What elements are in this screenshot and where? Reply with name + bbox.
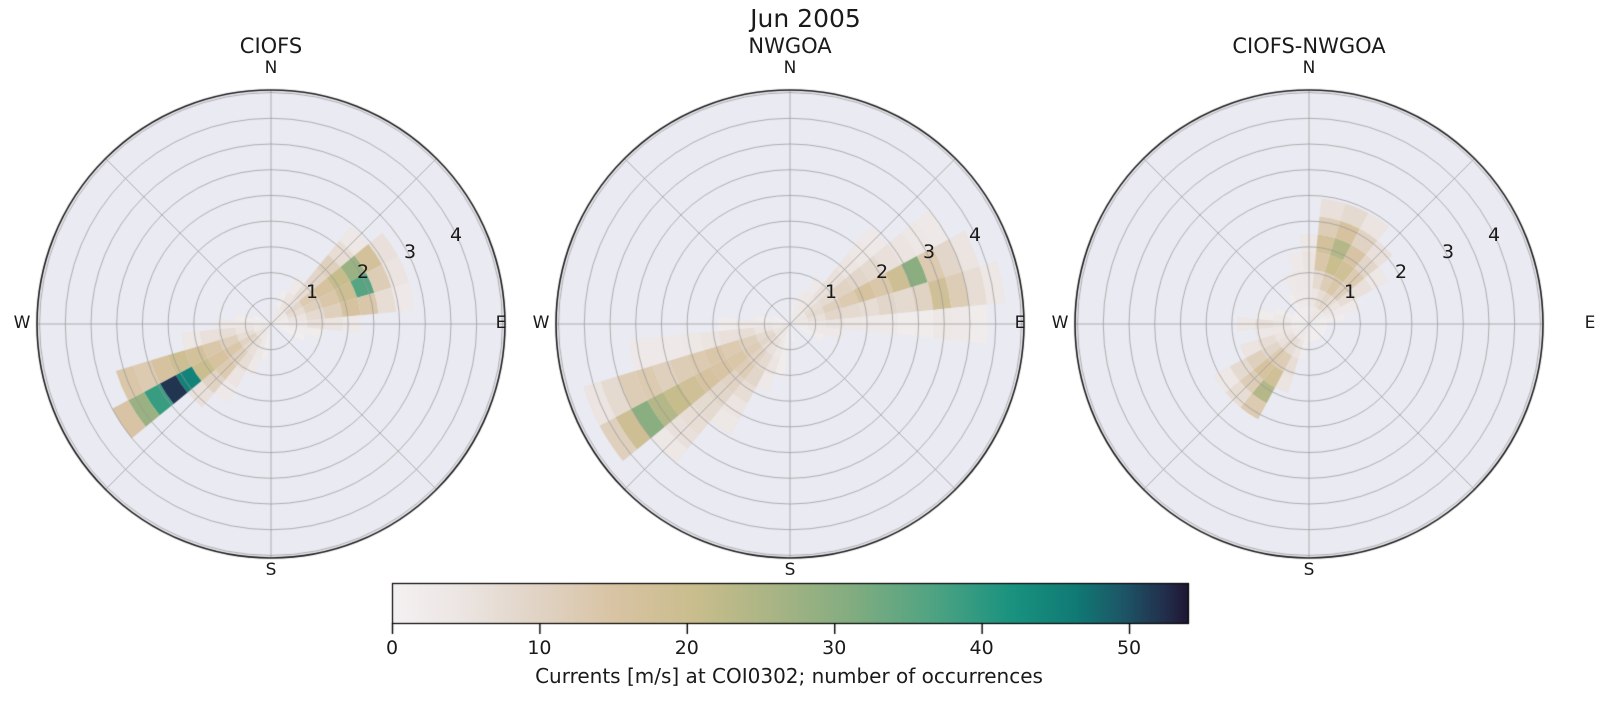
r-tick-label-3-ciofs-nwgoa: 3 [1436, 241, 1460, 263]
r-tick-label-2-nwgoa: 2 [870, 261, 894, 283]
colorbar-tick-20: 20 [662, 637, 712, 659]
r-tick-label-3-nwgoa: 3 [917, 241, 941, 263]
direction-label-n-ciofs: N [241, 58, 301, 78]
r-tick-label-3-ciofs: 3 [398, 241, 422, 263]
panel-title-nwgoa: NWGOA [640, 33, 940, 59]
panel-title-ciofs-nwgoa: CIOFS-NWGOA [1159, 33, 1459, 59]
colorbar-tick-0: 0 [367, 637, 417, 659]
direction-label-s-ciofs-nwgoa: S [1279, 560, 1339, 580]
colorbar-tick-40: 40 [957, 637, 1007, 659]
r-tick-label-4-ciofs-nwgoa: 4 [1482, 224, 1506, 246]
direction-label-w-nwgoa: W [521, 313, 561, 333]
direction-label-e-nwgoa: E [1000, 313, 1040, 333]
r-tick-label-1-ciofs: 1 [300, 281, 324, 303]
r-tick-label-2-ciofs: 2 [351, 261, 375, 283]
colorbar-axis-label: Currents [m/s] at COI0302; number of occ… [390, 664, 1188, 688]
direction-label-s-nwgoa: S [760, 560, 820, 580]
r-tick-label-4-ciofs: 4 [444, 224, 468, 246]
direction-label-e-ciofs: E [481, 313, 521, 333]
direction-label-s-ciofs: S [241, 560, 301, 580]
direction-label-w-ciofs: W [2, 313, 42, 333]
direction-label-e-ciofs-nwgoa: E [1570, 313, 1610, 333]
figure-root: Jun 2005 CIOFS N E S W 1 2 3 4 NWGOA N E… [0, 0, 1611, 724]
panel-title-ciofs: CIOFS [121, 33, 421, 59]
colorbar-tick-30: 30 [809, 637, 859, 659]
r-tick-label-1-nwgoa: 1 [819, 281, 843, 303]
direction-label-w-ciofs-nwgoa: W [1040, 313, 1080, 333]
polar-rose-canvas [0, 0, 1611, 724]
r-tick-label-4-nwgoa: 4 [963, 224, 987, 246]
direction-label-n-nwgoa: N [760, 58, 820, 78]
colorbar-tick-50: 50 [1104, 637, 1154, 659]
figure-suptitle: Jun 2005 [0, 4, 1611, 34]
r-tick-label-1-ciofs-nwgoa: 1 [1338, 281, 1362, 303]
colorbar-tick-10: 10 [514, 637, 564, 659]
direction-label-n-ciofs-nwgoa: N [1279, 58, 1339, 78]
r-tick-label-2-ciofs-nwgoa: 2 [1389, 261, 1413, 283]
